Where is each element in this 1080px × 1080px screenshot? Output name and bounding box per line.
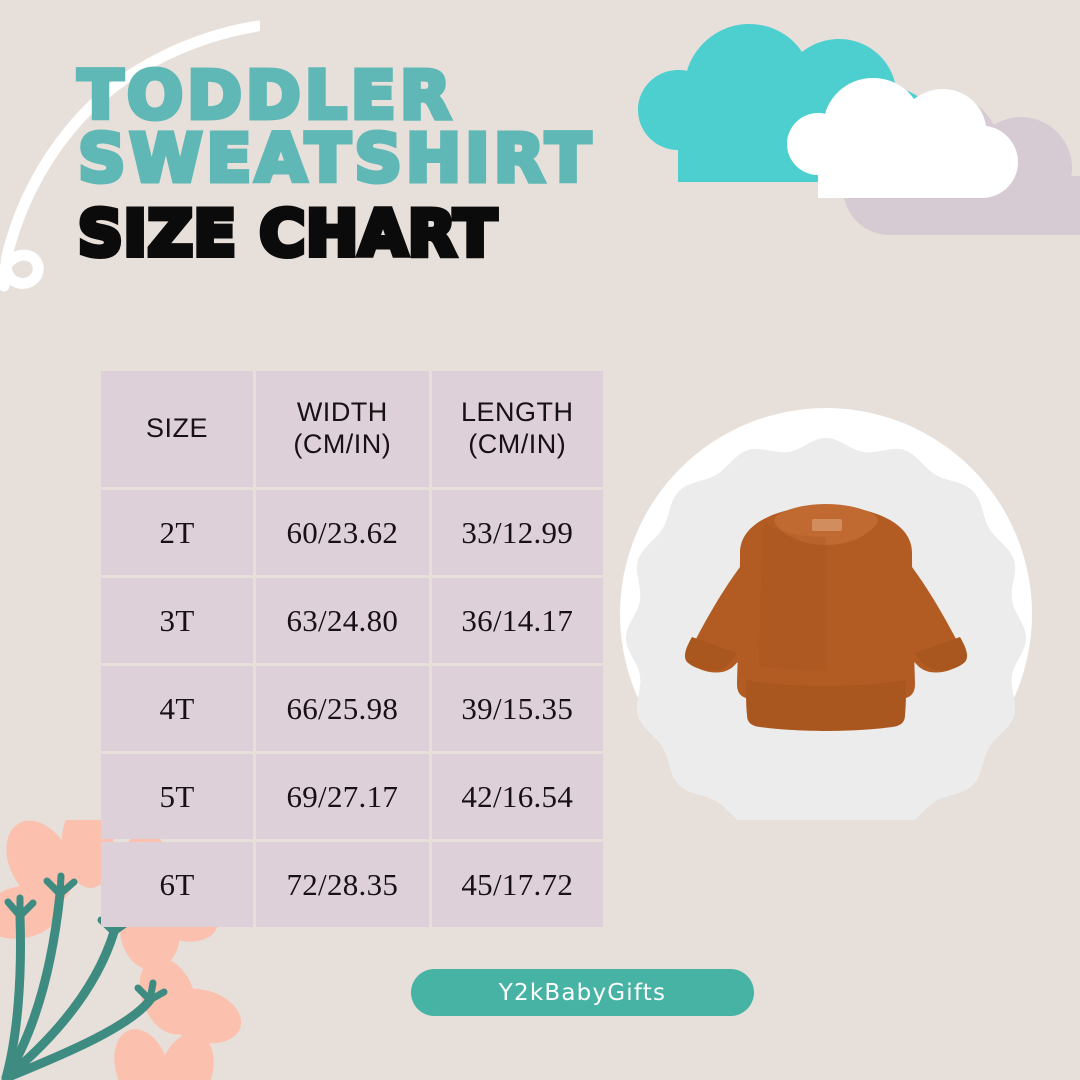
cell-size: 4T [101, 666, 253, 751]
cell-size: 5T [101, 754, 253, 839]
cell-width: 69/27.17 [256, 754, 428, 839]
table-row: 4T 66/25.98 39/15.35 [101, 666, 603, 751]
cell-size: 2T [101, 490, 253, 575]
table-header-row: SIZE WIDTH (CM/IN) LENGTH (CM/IN) [101, 371, 603, 487]
neck-tag [812, 519, 842, 531]
cell-width: 66/25.98 [256, 666, 428, 751]
product-image-frame [620, 408, 1032, 820]
brand-badge[interactable]: Y2kBabyGifts [411, 969, 754, 1016]
table-row: 2T 60/23.62 33/12.99 [101, 490, 603, 575]
column-header-size: SIZE [101, 371, 253, 487]
cell-width: 63/24.80 [256, 578, 428, 663]
cell-width: 72/28.35 [256, 842, 428, 927]
size-chart-table: SIZE WIDTH (CM/IN) LENGTH (CM/IN) 2T 60/… [98, 368, 606, 930]
page-subtitle: Size Chart [78, 203, 798, 265]
title-line-1: Toddler [78, 64, 798, 127]
column-header-length: LENGTH (CM/IN) [432, 371, 603, 487]
cell-width: 60/23.62 [256, 490, 428, 575]
cell-length: 39/15.35 [432, 666, 603, 751]
cloud-white-icon [787, 78, 1018, 198]
cell-length: 42/16.54 [432, 754, 603, 839]
title-line-2: Sweatshirt [78, 127, 798, 190]
cell-length: 36/14.17 [432, 578, 603, 663]
table-row: 3T 63/24.80 36/14.17 [101, 578, 603, 663]
brand-label: Y2kBabyGifts [499, 980, 666, 1006]
column-header-length-line2: (CM/IN) [432, 429, 603, 461]
hem-ribbing [746, 680, 906, 731]
cell-length: 45/17.72 [432, 842, 603, 927]
column-header-width-line2: (CM/IN) [256, 429, 428, 461]
column-header-width: WIDTH (CM/IN) [256, 371, 428, 487]
table-body: 2T 60/23.62 33/12.99 3T 63/24.80 36/14.1… [101, 490, 603, 927]
column-header-width-line1: WIDTH [256, 397, 428, 429]
table-row: 6T 72/28.35 45/17.72 [101, 842, 603, 927]
cloud-lilac-icon [843, 93, 1080, 235]
cell-size: 3T [101, 578, 253, 663]
cell-size: 6T [101, 842, 253, 927]
table-row: 5T 69/27.17 42/16.54 [101, 754, 603, 839]
column-header-length-line1: LENGTH [432, 397, 603, 429]
page-heading: Toddler Sweatshirt Size Chart [78, 64, 798, 265]
cell-length: 33/12.99 [432, 490, 603, 575]
